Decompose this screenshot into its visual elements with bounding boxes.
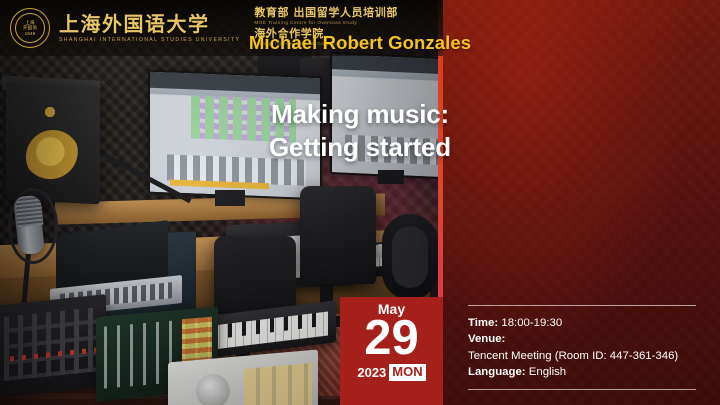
language-value: English (529, 366, 566, 378)
detail-venue-value: Tencent Meeting (Room ID: 447-361-346) (468, 348, 696, 364)
lecture-title: Making music: Getting started (0, 98, 720, 165)
date-weekday: MON (389, 364, 425, 380)
details-divider-bottom (468, 389, 696, 390)
detail-language: Language: English (468, 364, 696, 380)
date-year-weekday-row: 2023 MON (357, 364, 425, 380)
department-one-en: MOE Training Centre for Overseas Study (254, 20, 398, 25)
detail-time: Time: 18:00-19:30 (468, 315, 696, 331)
speaker-name: Michael Robert Gonzales (0, 32, 720, 54)
university-name-cn: 上海外国语大学 (59, 14, 240, 34)
venue-value: Tencent Meeting (Room ID: 447-361-346) (468, 350, 678, 362)
date-day: 29 (364, 316, 419, 361)
lecture-title-line-2: Getting started (0, 131, 720, 164)
detail-venue-label: Venue: (468, 331, 696, 347)
department-one-cn: 教育部 出国留学人员培训部 (254, 7, 398, 19)
time-value: 18:00-19:30 (501, 317, 562, 329)
date-badge: May 29 2023 MON (340, 297, 443, 405)
details-body: Time: 18:00-19:30 Venue: Tencent Meeting… (468, 306, 696, 389)
date-year: 2023 (357, 365, 386, 380)
time-label: Time: (468, 317, 498, 329)
venue-label: Venue: (468, 333, 505, 345)
event-poster: 上海外国语1949 上海外国语大学 SHANGHAI INTERNATIONAL… (0, 0, 720, 405)
lecture-title-line-1: Making music: (0, 98, 720, 131)
language-label: Language: (468, 366, 526, 378)
event-details: Time: 18:00-19:30 Venue: Tencent Meeting… (468, 305, 696, 390)
